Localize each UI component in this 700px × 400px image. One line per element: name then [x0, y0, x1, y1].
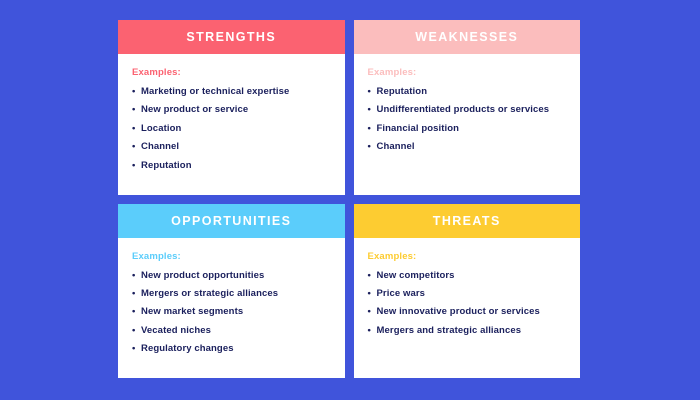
bullet-icon: • — [368, 271, 371, 282]
list-item: •Location — [132, 124, 331, 135]
list-item: •Channel — [132, 142, 331, 153]
examples-label: Examples: — [132, 251, 331, 262]
bullet-icon: • — [132, 289, 135, 300]
list-item: •Mergers or strategic alliances — [132, 289, 331, 300]
quadrant-weaknesses: WEAKNESSES Examples: •Reputation •Undiff… — [354, 20, 581, 195]
bullet-icon: • — [132, 307, 135, 318]
quadrant-title: STRENGTHS — [186, 30, 276, 44]
examples-label: Examples: — [368, 67, 567, 78]
list-item-label: Mergers and strategic alliances — [377, 325, 522, 336]
list-item-label: Vecated niches — [141, 325, 211, 336]
list-item-label: New product or service — [141, 104, 248, 115]
strengths-list: •Marketing or technical expertise •New p… — [132, 87, 331, 172]
swot-matrix: STRENGTHS Examples: •Marketing or techni… — [118, 20, 580, 378]
list-item-label: New competitors — [377, 270, 455, 281]
list-item: •Mergers and strategic alliances — [368, 326, 567, 337]
bullet-icon: • — [368, 326, 371, 337]
bullet-icon: • — [132, 326, 135, 337]
list-item: •New innovative product or services — [368, 307, 567, 318]
bullet-icon: • — [132, 124, 135, 135]
quadrant-title: WEAKNESSES — [415, 30, 518, 44]
weaknesses-list: •Reputation •Undifferentiated products o… — [368, 87, 567, 153]
quadrant-body-strengths: Examples: •Marketing or technical expert… — [118, 54, 345, 195]
examples-label: Examples: — [368, 251, 567, 262]
quadrant-strengths: STRENGTHS Examples: •Marketing or techni… — [118, 20, 345, 195]
quadrant-title: THREATS — [433, 214, 501, 228]
list-item-label: Location — [141, 123, 181, 134]
list-item: •Undifferentiated products or services — [368, 105, 567, 116]
bullet-icon: • — [132, 161, 135, 172]
opportunities-list: •New product opportunities •Mergers or s… — [132, 271, 331, 356]
quadrant-opportunities: OPPORTUNITIES Examples: •New product opp… — [118, 204, 345, 379]
bullet-icon: • — [132, 105, 135, 116]
list-item: •New market segments — [132, 307, 331, 318]
quadrant-header-weaknesses: WEAKNESSES — [354, 20, 581, 54]
bullet-icon: • — [368, 289, 371, 300]
bullet-icon: • — [132, 87, 135, 98]
list-item-label: Marketing or technical expertise — [141, 86, 289, 97]
list-item-label: Financial position — [377, 123, 460, 134]
list-item: •New product or service — [132, 105, 331, 116]
quadrant-header-strengths: STRENGTHS — [118, 20, 345, 54]
list-item-label: Channel — [377, 141, 415, 152]
list-item-label: Regulatory changes — [141, 343, 234, 354]
list-item: •Price wars — [368, 289, 567, 300]
list-item-label: Channel — [141, 141, 179, 152]
list-item-label: Reputation — [377, 86, 428, 97]
quadrant-title: OPPORTUNITIES — [171, 214, 291, 228]
list-item-label: Undifferentiated products or services — [377, 104, 550, 115]
list-item: •Regulatory changes — [132, 344, 331, 355]
examples-label: Examples: — [132, 67, 331, 78]
quadrant-header-opportunities: OPPORTUNITIES — [118, 204, 345, 238]
bullet-icon: • — [132, 271, 135, 282]
list-item: •Reputation — [132, 161, 331, 172]
quadrant-header-threats: THREATS — [354, 204, 581, 238]
list-item: •Reputation — [368, 87, 567, 98]
list-item-label: Mergers or strategic alliances — [141, 288, 278, 299]
list-item-label: Reputation — [141, 160, 192, 171]
list-item: •Financial position — [368, 124, 567, 135]
list-item: •Vecated niches — [132, 326, 331, 337]
bullet-icon: • — [368, 105, 371, 116]
list-item: •Marketing or technical expertise — [132, 87, 331, 98]
quadrant-body-weaknesses: Examples: •Reputation •Undifferentiated … — [354, 54, 581, 195]
list-item: •New competitors — [368, 271, 567, 282]
list-item-label: New market segments — [141, 306, 243, 317]
threats-list: •New competitors •Price wars •New innova… — [368, 271, 567, 337]
quadrant-threats: THREATS Examples: •New competitors •Pric… — [354, 204, 581, 379]
bullet-icon: • — [368, 124, 371, 135]
bullet-icon: • — [368, 307, 371, 318]
bullet-icon: • — [132, 142, 135, 153]
bullet-icon: • — [368, 87, 371, 98]
list-item: •Channel — [368, 142, 567, 153]
list-item-label: New product opportunities — [141, 270, 264, 281]
bullet-icon: • — [132, 344, 135, 355]
list-item-label: New innovative product or services — [377, 306, 540, 317]
bullet-icon: • — [368, 142, 371, 153]
list-item-label: Price wars — [377, 288, 426, 299]
quadrant-body-threats: Examples: •New competitors •Price wars •… — [354, 238, 581, 379]
list-item: •New product opportunities — [132, 271, 331, 282]
quadrant-body-opportunities: Examples: •New product opportunities •Me… — [118, 238, 345, 379]
